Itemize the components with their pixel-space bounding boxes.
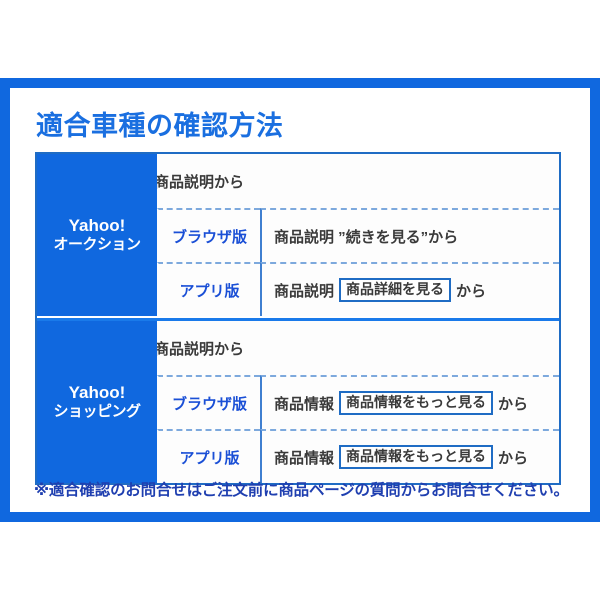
instruction-prefix: 商品説明 ”続きを見る”から <box>274 226 458 247</box>
footnote-text: ※適合確認のお問合せはご注文前に商品ページの質問からお問合せください。 <box>34 478 569 500</box>
group-label-shopping: Yahoo! ショッピング <box>37 321 157 483</box>
platform-cell: ブラウザ版 <box>157 375 260 429</box>
instruction-prefix: 商品説明から <box>154 338 244 359</box>
table-row: Yahoo! ショッピング パソコン版 商品説明から <box>37 321 559 375</box>
compatibility-table: Yahoo! オークション パソコン版 商品説明から ブラウザ版 商品説明 ”続… <box>35 152 561 485</box>
instruction-suffix: から <box>498 447 528 468</box>
instruction-cell: 商品情報 商品情報をもっと見る から <box>260 375 559 429</box>
instruction-cell: 商品説明から <box>140 154 559 208</box>
ui-button-chip[interactable]: 商品情報をもっと見る <box>339 445 493 469</box>
page-title: 適合車種の確認方法 <box>36 104 284 143</box>
instruction-prefix: 商品情報 <box>274 447 334 468</box>
group-label-auction: Yahoo! オークション <box>37 154 157 316</box>
platform-cell: アプリ版 <box>157 429 260 483</box>
instruction-prefix: 商品説明から <box>154 171 244 192</box>
table-group-auction: Yahoo! オークション パソコン版 商品説明から ブラウザ版 商品説明 ”続… <box>37 154 559 316</box>
ui-button-chip[interactable]: 商品情報をもっと見る <box>339 391 493 415</box>
instruction-prefix: 商品説明 <box>274 280 334 301</box>
instruction-cell: 商品説明から <box>140 321 559 375</box>
group-label-brand: Yahoo! <box>69 383 126 403</box>
platform-cell: ブラウザ版 <box>157 208 260 262</box>
platform-cell: アプリ版 <box>157 262 260 316</box>
content-panel: 適合車種の確認方法 Yahoo! オークション パソコン版 商品説明から <box>10 88 590 512</box>
blue-frame-border: 適合車種の確認方法 Yahoo! オークション パソコン版 商品説明から <box>0 78 600 522</box>
group-label-service: オークション <box>53 236 140 254</box>
group-label-brand: Yahoo! <box>69 216 126 236</box>
instruction-cell: 商品情報 商品情報をもっと見る から <box>260 429 559 483</box>
instruction-suffix: から <box>456 280 486 301</box>
group-label-service: ショッピング <box>53 403 140 421</box>
info-graphic-canvas: 適合車種の確認方法 Yahoo! オークション パソコン版 商品説明から <box>0 0 600 600</box>
instruction-cell: 商品説明 ”続きを見る”から <box>260 208 559 262</box>
table-group-shopping: Yahoo! ショッピング パソコン版 商品説明から ブラウザ版 商品情報 <box>37 321 559 483</box>
instruction-suffix: から <box>498 393 528 414</box>
table-row: Yahoo! オークション パソコン版 商品説明から <box>37 154 559 208</box>
instruction-cell: 商品説明 商品詳細を見る から <box>260 262 559 316</box>
ui-button-chip[interactable]: 商品詳細を見る <box>339 278 451 302</box>
instruction-prefix: 商品情報 <box>274 393 334 414</box>
